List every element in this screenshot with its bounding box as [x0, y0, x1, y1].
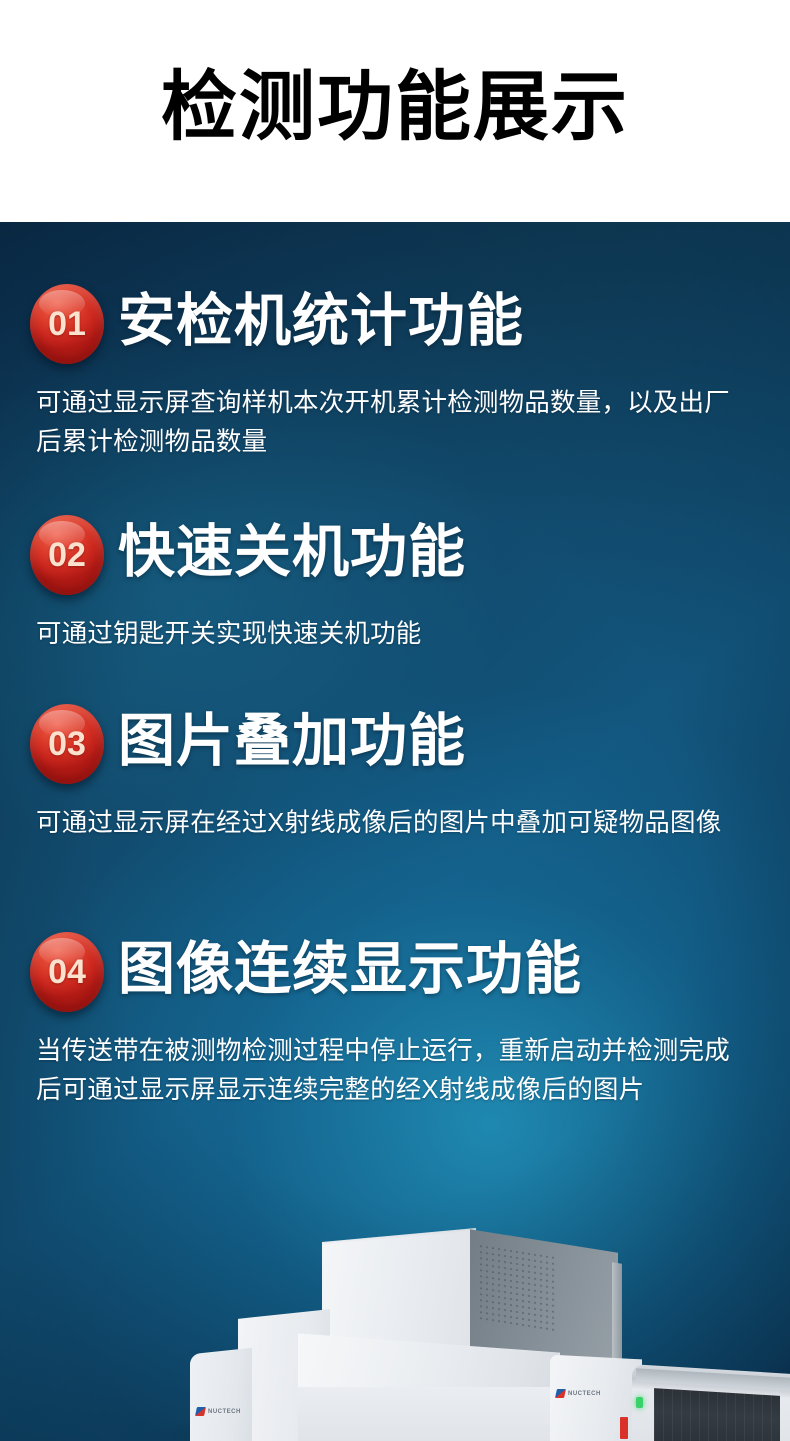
machine-vent-edge — [612, 1262, 622, 1372]
feature-header-04: 04 图像连续显示功能 — [0, 932, 790, 1018]
feature-block-04: 04 图像连续显示功能 当传送带在被测物检测过程中停止运行，重新启动并检测完成后… — [0, 932, 790, 1018]
feature-description-03: 可通过显示屏在经过X射线成像后的图片中叠加可疑物品图像 — [36, 804, 750, 843]
title-band: 检测功能展示 — [0, 0, 790, 222]
brand-logo-text-right: NUCTECH — [568, 1391, 601, 1397]
machine-brand-logo-right: NUCTECH — [556, 1389, 601, 1398]
machine-vent-perforation — [478, 1243, 556, 1333]
features-panel: 01 安检机统计功能 可通过显示屏查询样机本次开机累计检测物品数量，以及出厂后累… — [0, 222, 790, 1441]
feature-block-01: 01 安检机统计功能 可通过显示屏查询样机本次开机累计检测物品数量，以及出厂后累… — [0, 284, 790, 370]
brand-logo-text-left: NUCTECH — [208, 1409, 241, 1415]
machine-status-led-icon — [636, 1397, 643, 1408]
machine-step-panel-lower — [190, 1348, 252, 1441]
feature-number-badge-01: 01 — [30, 284, 104, 364]
page-title: 检测功能展示 — [161, 70, 629, 152]
product-photo: NUCTECH NUCTECH — [0, 1211, 790, 1441]
feature-title-02: 快速关机功能 — [118, 517, 466, 587]
feature-block-03: 03 图片叠加功能 可通过显示屏在经过X射线成像后的图片中叠加可疑物品图像 — [0, 704, 790, 790]
machine-lead-curtain — [654, 1388, 780, 1441]
feature-header-01: 01 安检机统计功能 — [0, 284, 790, 370]
machine-main-face — [298, 1387, 560, 1441]
feature-number-01: 01 — [48, 307, 86, 341]
feature-number-badge-04: 04 — [30, 932, 104, 1012]
brand-mark-icon — [195, 1407, 206, 1416]
feature-title-01: 安检机统计功能 — [118, 286, 524, 356]
feature-number-03: 03 — [48, 727, 86, 761]
machine-emergency-stop-icon — [620, 1417, 628, 1439]
feature-title-04: 图像连续显示功能 — [118, 934, 582, 1004]
feature-description-04: 当传送带在被测物检测过程中停止运行，重新启动并检测完成后可通过显示屏显示连续完整… — [36, 1032, 750, 1110]
feature-number-badge-03: 03 — [30, 704, 104, 784]
feature-number-04: 04 — [48, 955, 86, 989]
product-feature-poster: 检测功能展示 01 安检机统计功能 可通过显示屏查询样机本次开机累计检测物品数量… — [0, 0, 790, 1441]
feature-block-02: 02 快速关机功能 可通过钥匙开关实现快速关机功能 — [0, 515, 790, 601]
machine-brand-logo-left: NUCTECH — [196, 1407, 241, 1416]
feature-number-badge-02: 02 — [30, 515, 104, 595]
feature-description-02: 可通过钥匙开关实现快速关机功能 — [36, 615, 750, 654]
feature-header-02: 02 快速关机功能 — [0, 515, 790, 601]
feature-number-02: 02 — [48, 538, 86, 572]
brand-mark-icon — [555, 1389, 566, 1398]
feature-header-03: 03 图片叠加功能 — [0, 704, 790, 790]
feature-description-01: 可通过显示屏查询样机本次开机累计检测物品数量，以及出厂后累计检测物品数量 — [36, 384, 750, 462]
feature-title-03: 图片叠加功能 — [118, 706, 466, 776]
